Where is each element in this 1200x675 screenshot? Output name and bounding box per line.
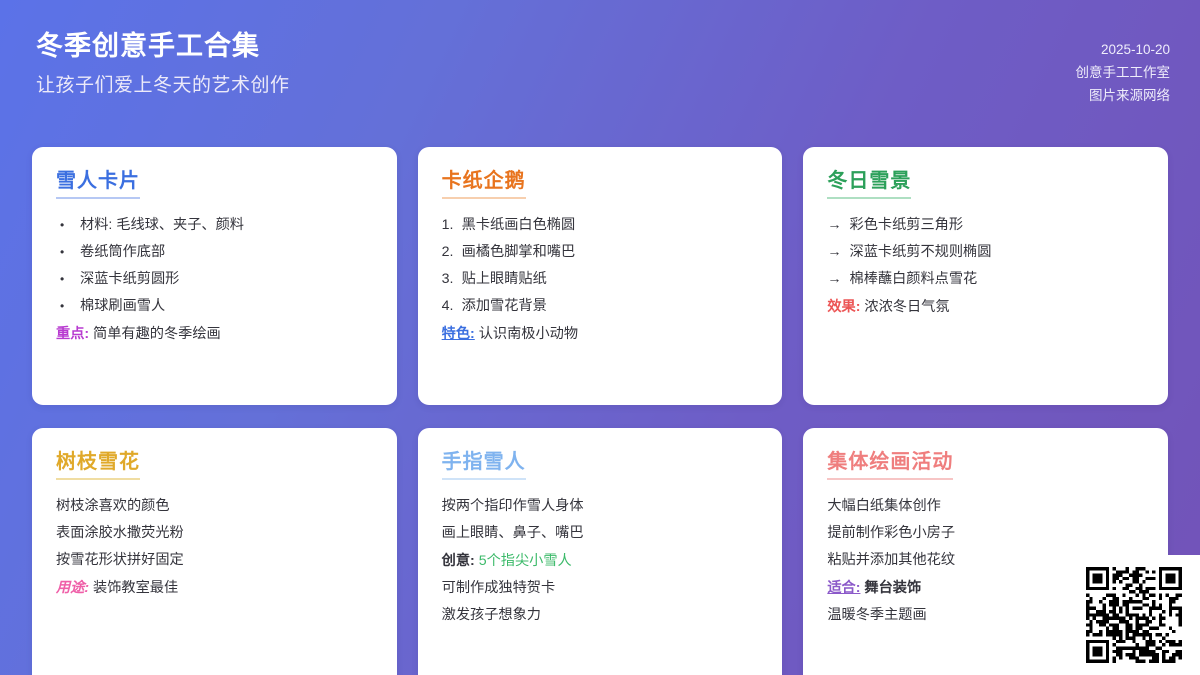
qr-panel — [1068, 555, 1200, 675]
list-number: 4. — [442, 293, 454, 320]
card-line-item: 表面涂胶水撒荧光粉 — [56, 520, 373, 547]
card-line-text: 大幅白纸集体创作 — [827, 493, 941, 520]
card-line-list: 1.黑卡纸画白色椭圆2.画橘色脚掌和嘴巴3.贴上眼睛贴纸4.添加雪花背景 — [442, 212, 759, 320]
card-note-label: 用途: — [56, 580, 89, 596]
page-header: 冬季创意手工合集 让孩子们爱上冬天的艺术创作 2025-10-20 创意手工工作… — [0, 0, 1200, 132]
card-line-list: 树枝涂喜欢的颜色表面涂胶水撒荧光粉按雪花形状拼好固定 — [56, 493, 373, 574]
card-title: 雪人卡片 — [56, 169, 140, 199]
card-line-item: 树枝涂喜欢的颜色 — [56, 493, 373, 520]
card-line-item: 按雪花形状拼好固定 — [56, 547, 373, 574]
card-line-text: 表面涂胶水撒荧光粉 — [56, 520, 184, 547]
card-line-item: 3.贴上眼睛贴纸 — [442, 266, 759, 293]
arrow-icon: → — [827, 266, 841, 293]
card-line-item: •棉球刷画雪人 — [56, 293, 373, 320]
card-line-text: 画上眼睛、鼻子、嘴巴 — [442, 520, 584, 547]
bullet-icon: • — [56, 295, 72, 318]
card-note-label: 重点: — [56, 326, 89, 342]
card-line-item: 画上眼睛、鼻子、嘴巴 — [442, 520, 759, 547]
card-line-text: 按两个指印作雪人身体 — [442, 493, 584, 520]
card-line-item: 2.画橘色脚掌和嘴巴 — [442, 239, 759, 266]
card-line-item: 4.添加雪花背景 — [442, 293, 759, 320]
card-line-text: 可制作成独特贺卡 — [442, 575, 556, 602]
craft-card[interactable]: 手指雪人按两个指印作雪人身体画上眼睛、鼻子、嘴巴创意: 5个指尖小雪人可制作成独… — [418, 428, 783, 675]
card-note-value: 舞台装饰 — [860, 580, 921, 596]
craft-card-grid: 雪人卡片•材料: 毛线球、夹子、颜料•卷纸筒作底部•深蓝卡纸剪圆形•棉球刷画雪人… — [32, 147, 1168, 675]
header-studio: 创意手工工作室 — [1076, 61, 1171, 84]
card-note-value: 简单有趣的冬季绘画 — [89, 326, 221, 342]
bullet-icon: • — [56, 268, 72, 291]
card-line-text: 深蓝卡纸剪圆形 — [80, 266, 179, 293]
card-line-item: •卷纸筒作底部 — [56, 239, 373, 266]
header-date: 2025-10-20 — [1076, 38, 1171, 61]
card-title: 冬日雪景 — [827, 169, 911, 199]
card-line-item: →棉棒蘸白颜料点雪花 — [827, 266, 1144, 293]
bullet-icon: • — [56, 214, 72, 237]
card-title: 集体绘画活动 — [827, 450, 953, 480]
card-line-item: 大幅白纸集体创作 — [827, 493, 1144, 520]
card-note: 用途: 装饰教室最佳 — [56, 575, 373, 602]
card-line-text: 按雪花形状拼好固定 — [56, 547, 184, 574]
card-note-label: 效果: — [827, 299, 860, 315]
card-note: 特色: 认识南极小动物 — [442, 321, 759, 348]
card-line-text: 贴上眼睛贴纸 — [462, 266, 547, 293]
card-note-value: 浓浓冬日气氛 — [860, 299, 949, 315]
card-line-item: →彩色卡纸剪三角形 — [827, 212, 1144, 239]
card-line-text: 温暖冬季主题画 — [827, 602, 926, 629]
card-note-value: 装饰教室最佳 — [89, 580, 178, 596]
page-subtitle: 让孩子们爱上冬天的艺术创作 — [36, 73, 290, 99]
card-note: 创意: 5个指尖小雪人 — [442, 548, 759, 575]
list-number: 2. — [442, 239, 454, 266]
card-line-text: 棉球刷画雪人 — [80, 293, 165, 320]
header-meta: 2025-10-20 创意手工工作室 图片来源网络 — [1076, 28, 1171, 108]
card-line-text: 树枝涂喜欢的颜色 — [56, 493, 170, 520]
craft-card[interactable]: 雪人卡片•材料: 毛线球、夹子、颜料•卷纸筒作底部•深蓝卡纸剪圆形•棉球刷画雪人… — [32, 147, 397, 405]
card-title: 卡纸企鹅 — [442, 169, 526, 199]
bullet-icon: • — [56, 241, 72, 264]
card-line-text: 棉棒蘸白颜料点雪花 — [850, 266, 978, 293]
card-line-text: 彩色卡纸剪三角形 — [850, 212, 964, 239]
header-source: 图片来源网络 — [1076, 84, 1171, 107]
card-line-item: 激发孩子想象力 — [442, 602, 759, 629]
card-note-label: 特色: — [442, 326, 475, 342]
page-title: 冬季创意手工合集 — [36, 28, 290, 64]
list-number: 1. — [442, 212, 454, 239]
card-line-text: 材料: 毛线球、夹子、颜料 — [80, 212, 244, 239]
card-line-text: 卷纸筒作底部 — [80, 239, 165, 266]
card-line-item: 按两个指印作雪人身体 — [442, 493, 759, 520]
card-line-item: 可制作成独特贺卡 — [442, 575, 759, 602]
card-line-text: 黑卡纸画白色椭圆 — [462, 212, 576, 239]
card-line-text: 画橘色脚掌和嘴巴 — [462, 239, 576, 266]
card-line-list: →彩色卡纸剪三角形→深蓝卡纸剪不规则椭圆→棉棒蘸白颜料点雪花 — [827, 212, 1144, 293]
card-note-value: 5个指尖小雪人 — [475, 553, 572, 569]
card-note-label: 创意: — [442, 553, 475, 569]
card-line-text: 激发孩子想象力 — [442, 602, 541, 629]
arrow-icon: → — [827, 239, 841, 266]
craft-card[interactable]: 树枝雪花树枝涂喜欢的颜色表面涂胶水撒荧光粉按雪花形状拼好固定用途: 装饰教室最佳 — [32, 428, 397, 675]
card-note-value: 认识南极小动物 — [475, 326, 578, 342]
list-number: 3. — [442, 266, 454, 293]
card-line-text: 提前制作彩色小房子 — [827, 520, 955, 547]
card-note: 效果: 浓浓冬日气氛 — [827, 294, 1144, 321]
card-note-label: 适合: — [827, 580, 860, 596]
card-line-item: •深蓝卡纸剪圆形 — [56, 266, 373, 293]
header-titles: 冬季创意手工合集 让孩子们爱上冬天的艺术创作 — [36, 28, 290, 99]
card-line-list: 按两个指印作雪人身体画上眼睛、鼻子、嘴巴 — [442, 493, 759, 547]
card-title: 手指雪人 — [442, 450, 526, 480]
craft-card[interactable]: 冬日雪景→彩色卡纸剪三角形→深蓝卡纸剪不规则椭圆→棉棒蘸白颜料点雪花效果: 浓浓… — [803, 147, 1168, 405]
card-line-text: 添加雪花背景 — [462, 293, 547, 320]
card-note: 重点: 简单有趣的冬季绘画 — [56, 321, 373, 348]
card-line-list: •材料: 毛线球、夹子、颜料•卷纸筒作底部•深蓝卡纸剪圆形•棉球刷画雪人 — [56, 212, 373, 320]
card-title: 树枝雪花 — [56, 450, 140, 480]
arrow-icon: → — [827, 212, 841, 239]
card-line-item: →深蓝卡纸剪不规则椭圆 — [827, 239, 1144, 266]
card-line-text: 粘贴并添加其他花纹 — [827, 547, 955, 574]
craft-card[interactable]: 卡纸企鹅1.黑卡纸画白色椭圆2.画橘色脚掌和嘴巴3.贴上眼睛贴纸4.添加雪花背景… — [418, 147, 783, 405]
card-line-list: 可制作成独特贺卡激发孩子想象力 — [442, 575, 759, 629]
card-line-item: 1.黑卡纸画白色椭圆 — [442, 212, 759, 239]
card-line-item: •材料: 毛线球、夹子、颜料 — [56, 212, 373, 239]
qr-code-icon[interactable] — [1086, 567, 1182, 663]
card-line-item: 提前制作彩色小房子 — [827, 520, 1144, 547]
card-line-text: 深蓝卡纸剪不规则椭圆 — [850, 239, 992, 266]
